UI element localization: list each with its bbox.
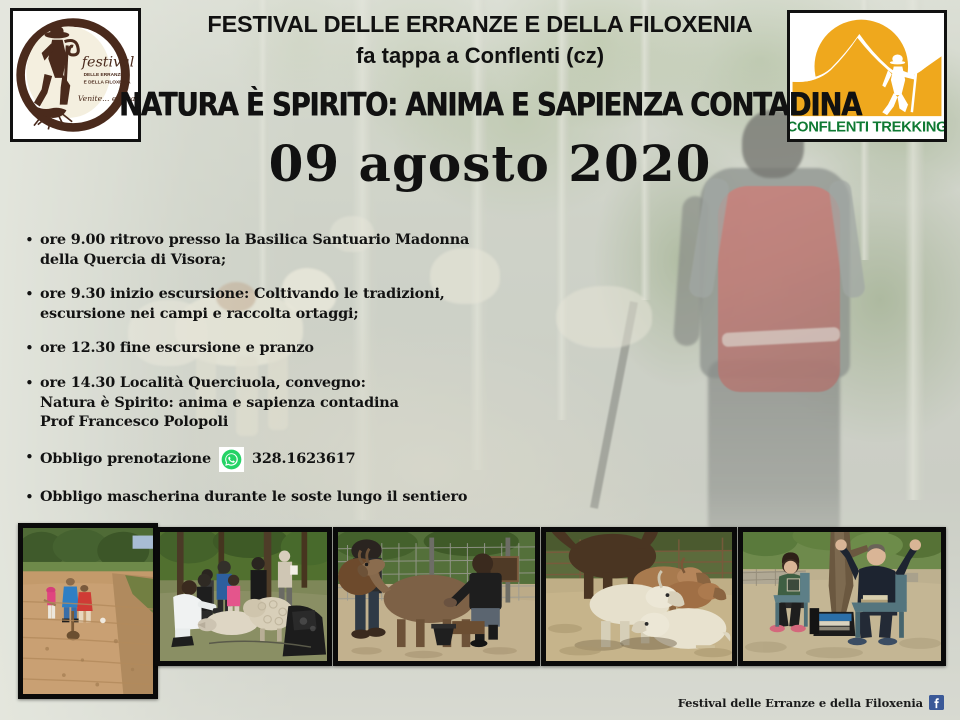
poster-title-line2: fa tappa a Conflenti (cz) — [60, 43, 900, 69]
photo-goats-resting — [541, 527, 737, 666]
booking-phone-number: 328.1623617 — [252, 449, 356, 469]
bullet-icon: • — [22, 373, 40, 393]
program-item-text: Obbligo mascherina durante le soste lung… — [40, 487, 467, 507]
logo-left-line2: E DELLA FILOXENIA — [84, 80, 132, 86]
photo-sheep-shearing — [155, 527, 332, 666]
bullet-icon: • — [22, 447, 40, 467]
program-item-text: ore 12.30 fine escursione e pranzo — [40, 338, 314, 358]
photo-outdoor-talk — [738, 527, 946, 666]
event-date: 09 agosto 2020 — [100, 134, 880, 193]
list-item: • ore 14.30 Località Querciuola, convegn… — [22, 373, 492, 432]
program-item-text: ore 9.00 ritrovo presso la Basilica Sant… — [40, 230, 469, 269]
list-item: • ore 9.00 ritrovo presso la Basilica Sa… — [22, 230, 492, 269]
program-item-text: ore 14.30 Località Querciuola, convegno:… — [40, 373, 399, 432]
list-item: • ore 12.30 fine escursione e pranzo — [22, 338, 492, 358]
bullet-icon: • — [22, 230, 40, 250]
photo-goat-milking — [333, 527, 540, 666]
list-item-booking: • Obbligo prenotazione 328.1623617 — [22, 447, 492, 472]
program-list: • ore 9.00 ritrovo presso la Basilica Sa… — [22, 230, 492, 522]
bullet-icon: • — [22, 284, 40, 304]
list-item: • ore 9.30 inizio escursione: Coltivando… — [22, 284, 492, 323]
footer-text: Festival delle Erranze e della Filoxenia — [678, 696, 923, 710]
program-item-text: ore 9.30 inizio escursione: Coltivando l… — [40, 284, 445, 323]
event-poster: festival DELLE ERRANZE E DELLA FILOXENIA… — [0, 0, 960, 720]
list-item: • Obbligo mascherina durante le soste lu… — [22, 487, 492, 507]
logo-left-line1: DELLE ERRANZE — [84, 72, 124, 78]
program-item-text: Obbligo prenotazione — [40, 449, 211, 469]
bullet-icon: • — [22, 338, 40, 358]
whatsapp-icon[interactable] — [219, 447, 244, 472]
poster-subtitle: NATURA È SPIRITO: ANIMA E SAPIENZA CONTA… — [92, 87, 888, 124]
footer-credit: Festival delle Erranze e della Filoxenia — [678, 695, 944, 710]
poster-title-line1: FESTIVAL DELLE ERRANZE E DELLA FILOXENIA — [60, 11, 900, 38]
facebook-icon[interactable] — [929, 695, 944, 710]
photo-field-planting — [18, 523, 158, 699]
bullet-icon: • — [22, 487, 40, 507]
